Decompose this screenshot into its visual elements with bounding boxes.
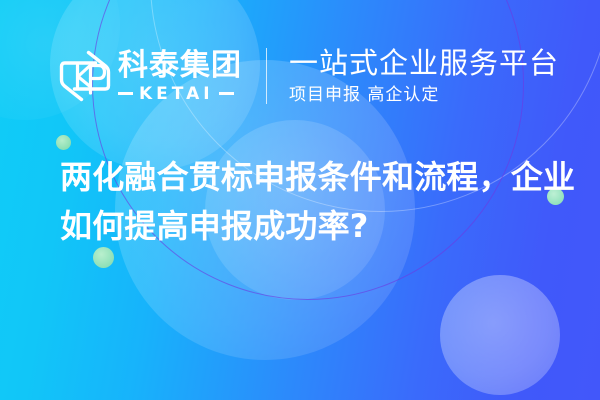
wordmark-left-rule-icon [118, 92, 133, 95]
brand-name-en: KETAI [139, 85, 214, 103]
wordmark-right-rule-icon [219, 92, 234, 95]
brand-name-cn: 科泰集团 [118, 50, 242, 82]
ketai-kp-diamond-logo-icon [58, 48, 112, 104]
banner-header: 科泰集团 KETAI 一站式企业服务平台 项目申报 高企认定 [58, 40, 559, 112]
tagline-main: 一站式企业服务平台 [289, 47, 559, 80]
brand-wordmark: 科泰集团 KETAI [118, 50, 242, 103]
green-dot-upper-left [56, 135, 71, 150]
header-divider [266, 48, 267, 104]
tagline-block: 一站式企业服务平台 项目申报 高企认定 [289, 47, 559, 106]
bottom-right-circle [440, 275, 560, 395]
tagline-sub: 项目申报 高企认定 [289, 84, 559, 106]
brand-name-en-row: KETAI [118, 85, 242, 103]
promo-banner: 科泰集团 KETAI 一站式企业服务平台 项目申报 高企认定 两化融合贯标申报条… [0, 0, 600, 400]
brand-logo[interactable]: 科泰集团 KETAI [58, 48, 242, 104]
headline-title: 两化融合贯标申报条件和流程，企业如何提高申报成功率? [60, 153, 580, 251]
